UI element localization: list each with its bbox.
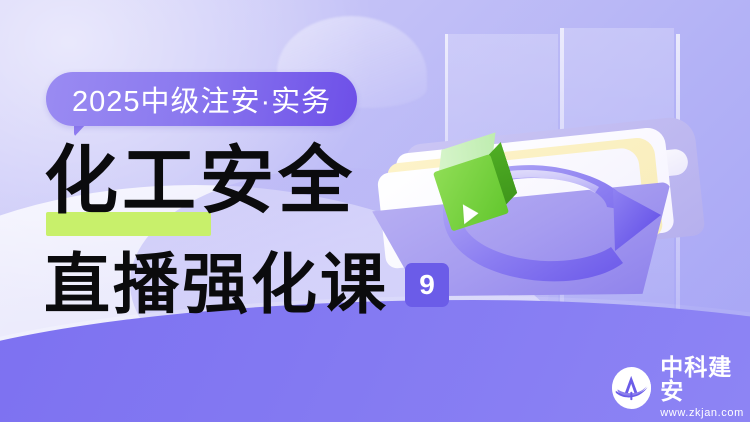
logo-brand-name: 中科建安 — [660, 356, 750, 404]
headline-line-1: 化工安全 — [44, 144, 356, 218]
mountain-swoosh-icon — [612, 367, 651, 409]
course-promo-banner: 2025中级注安·实务 化工安全 直播强化课 9 中科建安 www.zkjan.… — [0, 0, 750, 422]
course-category-label: 2025中级注安·实务 — [72, 78, 331, 120]
course-category-badge: 2025中级注安·实务 — [46, 72, 357, 126]
logo-text-block: 中科建安 www.zkjan.com — [660, 356, 750, 421]
brand-logo[interactable]: 中科建安 www.zkjan.com — [612, 356, 750, 421]
headline-line-2-row: 直播强化课 9 — [44, 252, 449, 318]
episode-number-badge: 9 — [405, 263, 449, 307]
logo-website-url: www.zkjan.com — [660, 406, 750, 420]
headline-line-2: 直播强化课 — [44, 252, 389, 318]
play-triangle-icon — [463, 203, 479, 224]
